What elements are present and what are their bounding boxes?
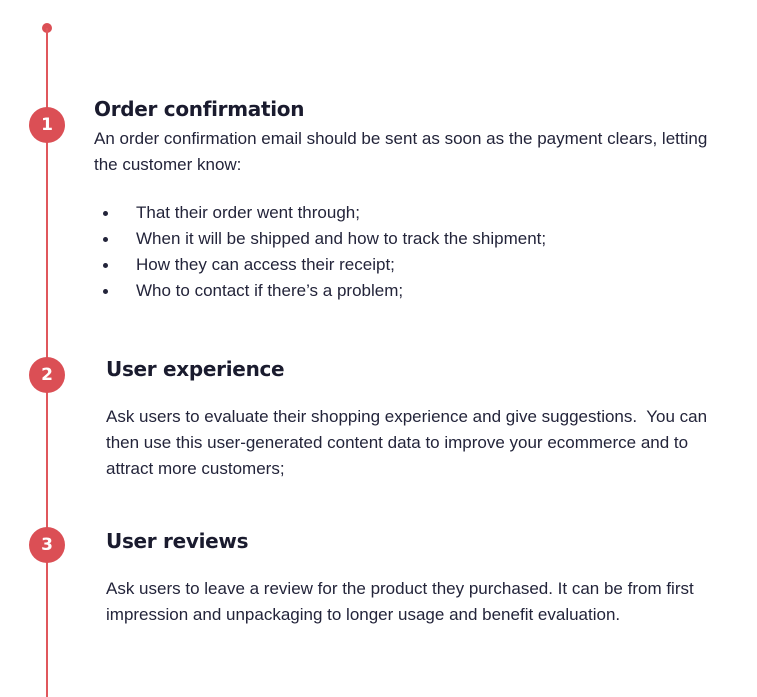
step-1-bullet-list: That their order went through; When it w…	[94, 200, 724, 304]
bullet-dot-icon	[103, 237, 108, 242]
list-item: Who to contact if there’s a problem;	[94, 278, 724, 304]
timeline-marker-3[interactable]: 3	[29, 527, 65, 563]
step-3-heading: User reviews	[106, 528, 726, 554]
list-item-label: When it will be shipped and how to track…	[136, 229, 546, 248]
timeline-step-3: User reviews Ask users to leave a review…	[106, 528, 726, 628]
timeline-step-1: Order confirmation An order confirmation…	[94, 96, 724, 304]
timeline-marker-2[interactable]: 2	[29, 357, 65, 393]
list-item-label: That their order went through;	[136, 203, 360, 222]
bullet-dot-icon	[103, 211, 108, 216]
timeline-container: 1 Order confirmation An order confirmati…	[0, 0, 757, 697]
step-1-heading: Order confirmation	[94, 96, 724, 122]
step-2-heading: User experience	[106, 356, 726, 382]
step-1-body: An order confirmation email should be se…	[94, 126, 724, 178]
list-item: When it will be shipped and how to track…	[94, 226, 724, 252]
step-2-body: Ask users to evaluate their shopping exp…	[106, 404, 726, 482]
list-item: That their order went through;	[94, 200, 724, 226]
timeline-marker-1[interactable]: 1	[29, 107, 65, 143]
list-item-label: Who to contact if there’s a problem;	[136, 281, 403, 300]
bullet-dot-icon	[103, 263, 108, 268]
bullet-dot-icon	[103, 289, 108, 294]
step-3-body: Ask users to leave a review for the prod…	[106, 576, 726, 628]
list-item: How they can access their receipt;	[94, 252, 724, 278]
list-item-label: How they can access their receipt;	[136, 255, 395, 274]
timeline-step-2: User experience Ask users to evaluate th…	[106, 356, 726, 482]
